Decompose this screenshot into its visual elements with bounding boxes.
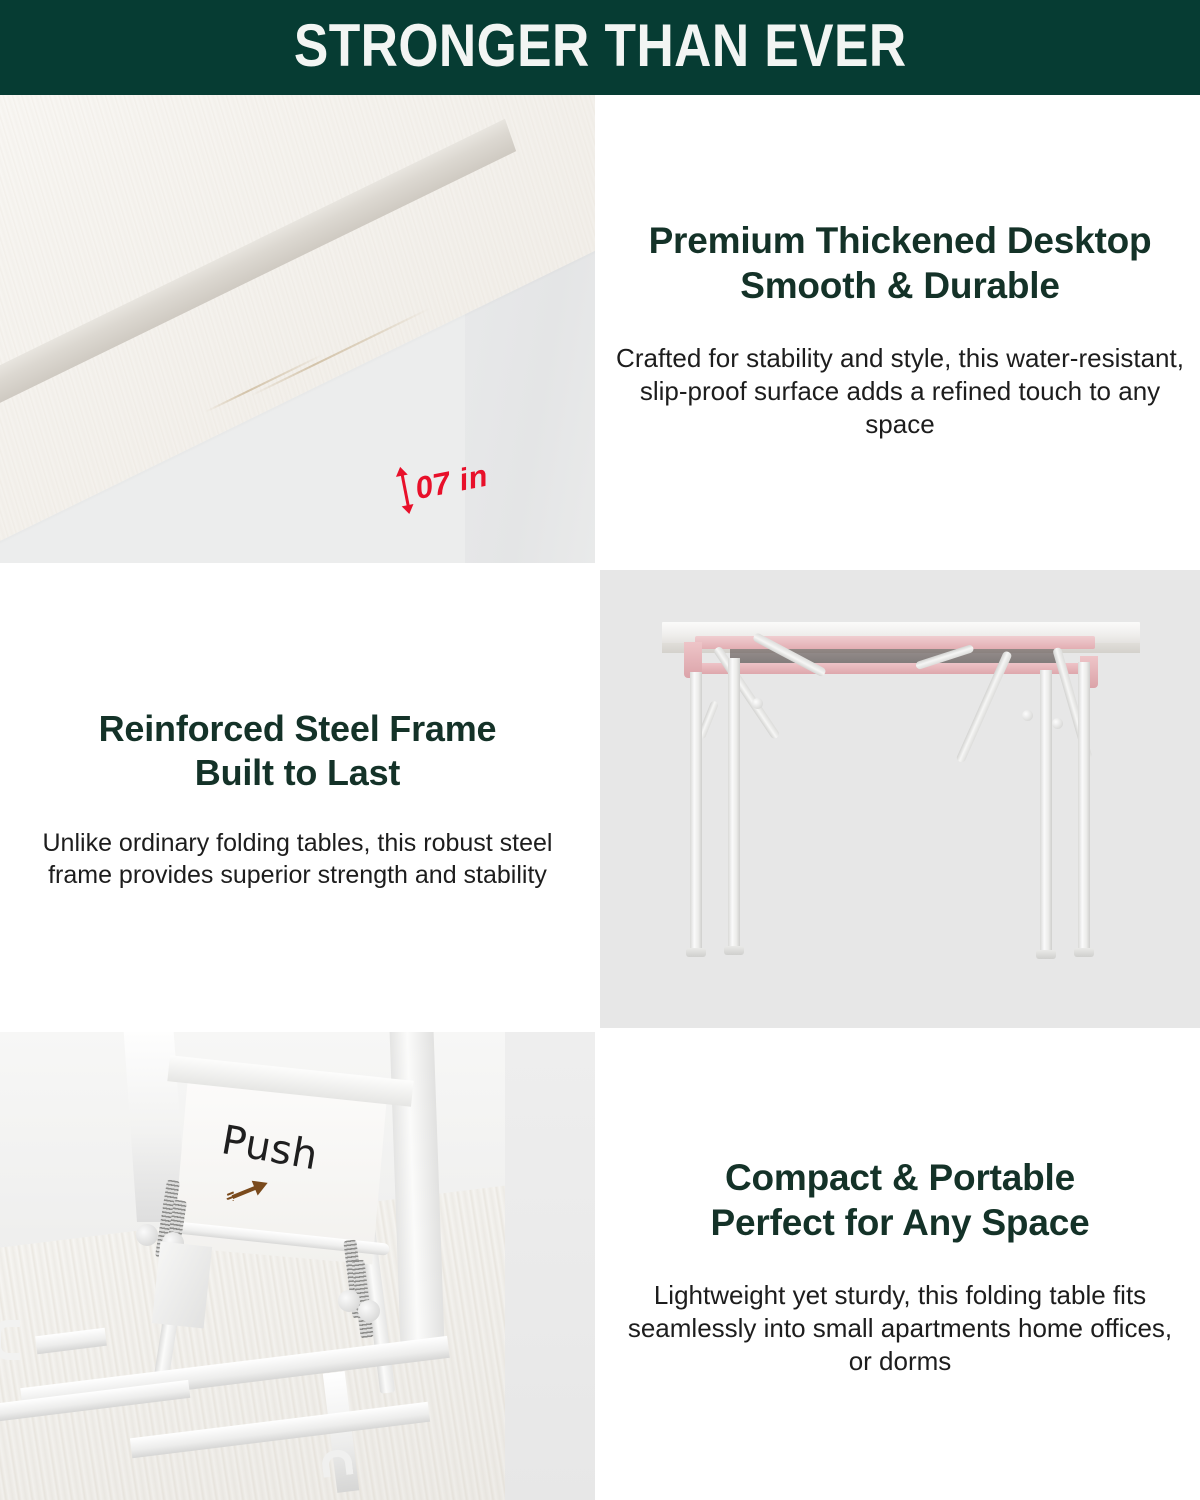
folding-mechanism-image: Push (0, 1032, 595, 1500)
table-illustration (600, 570, 1200, 1028)
leg-foot-pad (724, 946, 744, 955)
pivot-joint (1052, 718, 1063, 729)
feature-text-premium-desktop: Premium Thickened Desktop Smooth & Durab… (600, 95, 1200, 563)
table-leg (728, 658, 740, 948)
text-panel: Compact & Portable Perfect for Any Space… (600, 1032, 1200, 1500)
push-annotation: Push (212, 1120, 321, 1214)
table-leg (1078, 662, 1090, 950)
pivot-joint (358, 1300, 380, 1322)
pivot-joint (136, 1224, 158, 1246)
photo-folding-mechanism: Push (0, 1032, 595, 1500)
thickness-label: 07 in (413, 459, 491, 503)
table-leg (1040, 670, 1052, 952)
steel-apron-rail-lower (695, 663, 1095, 674)
feature-heading: Premium Thickened Desktop Smooth & Durab… (649, 218, 1152, 308)
photo-background-right (505, 1032, 595, 1500)
folding-table-image (600, 570, 1200, 1028)
feature-body: Crafted for stability and style, this wa… (616, 342, 1184, 440)
header-banner: STRONGER THAN EVER (0, 0, 1200, 95)
pivot-joint (752, 698, 763, 709)
table-leg (690, 672, 702, 950)
text-panel: Premium Thickened Desktop Smooth & Durab… (600, 95, 1200, 563)
feature-heading: Reinforced Steel Frame Built to Last (99, 707, 497, 795)
leg-foot-pad (1036, 950, 1056, 959)
photo-desktop-corner: 07 in (0, 95, 595, 563)
feature-body: Unlike ordinary folding tables, this rob… (38, 828, 558, 891)
photo-folding-table (600, 570, 1200, 1028)
infographic-page: STRONGER THAN EVER 07 in Premium Thicken… (0, 0, 1200, 1500)
feature-text-steel-frame: Reinforced Steel Frame Built to Last Unl… (0, 570, 595, 1028)
desktop-corner-image: 07 in (0, 95, 595, 563)
leg-foot-pad (686, 948, 706, 957)
leg-foot-pad (1074, 948, 1094, 957)
feature-body: Lightweight yet sturdy, this folding tab… (616, 1279, 1184, 1377)
frame-hook-left (0, 1320, 20, 1360)
banner-title: STRONGER THAN EVER (294, 16, 907, 80)
text-panel: Reinforced Steel Frame Built to Last Unl… (0, 570, 595, 1028)
feature-heading: Compact & Portable Perfect for Any Space (711, 1155, 1090, 1245)
pivot-joint (338, 1290, 360, 1312)
pivot-joint (1022, 710, 1033, 721)
mounting-plate (152, 1242, 212, 1329)
feature-text-compact-portable: Compact & Portable Perfect for Any Space… (600, 1032, 1200, 1500)
